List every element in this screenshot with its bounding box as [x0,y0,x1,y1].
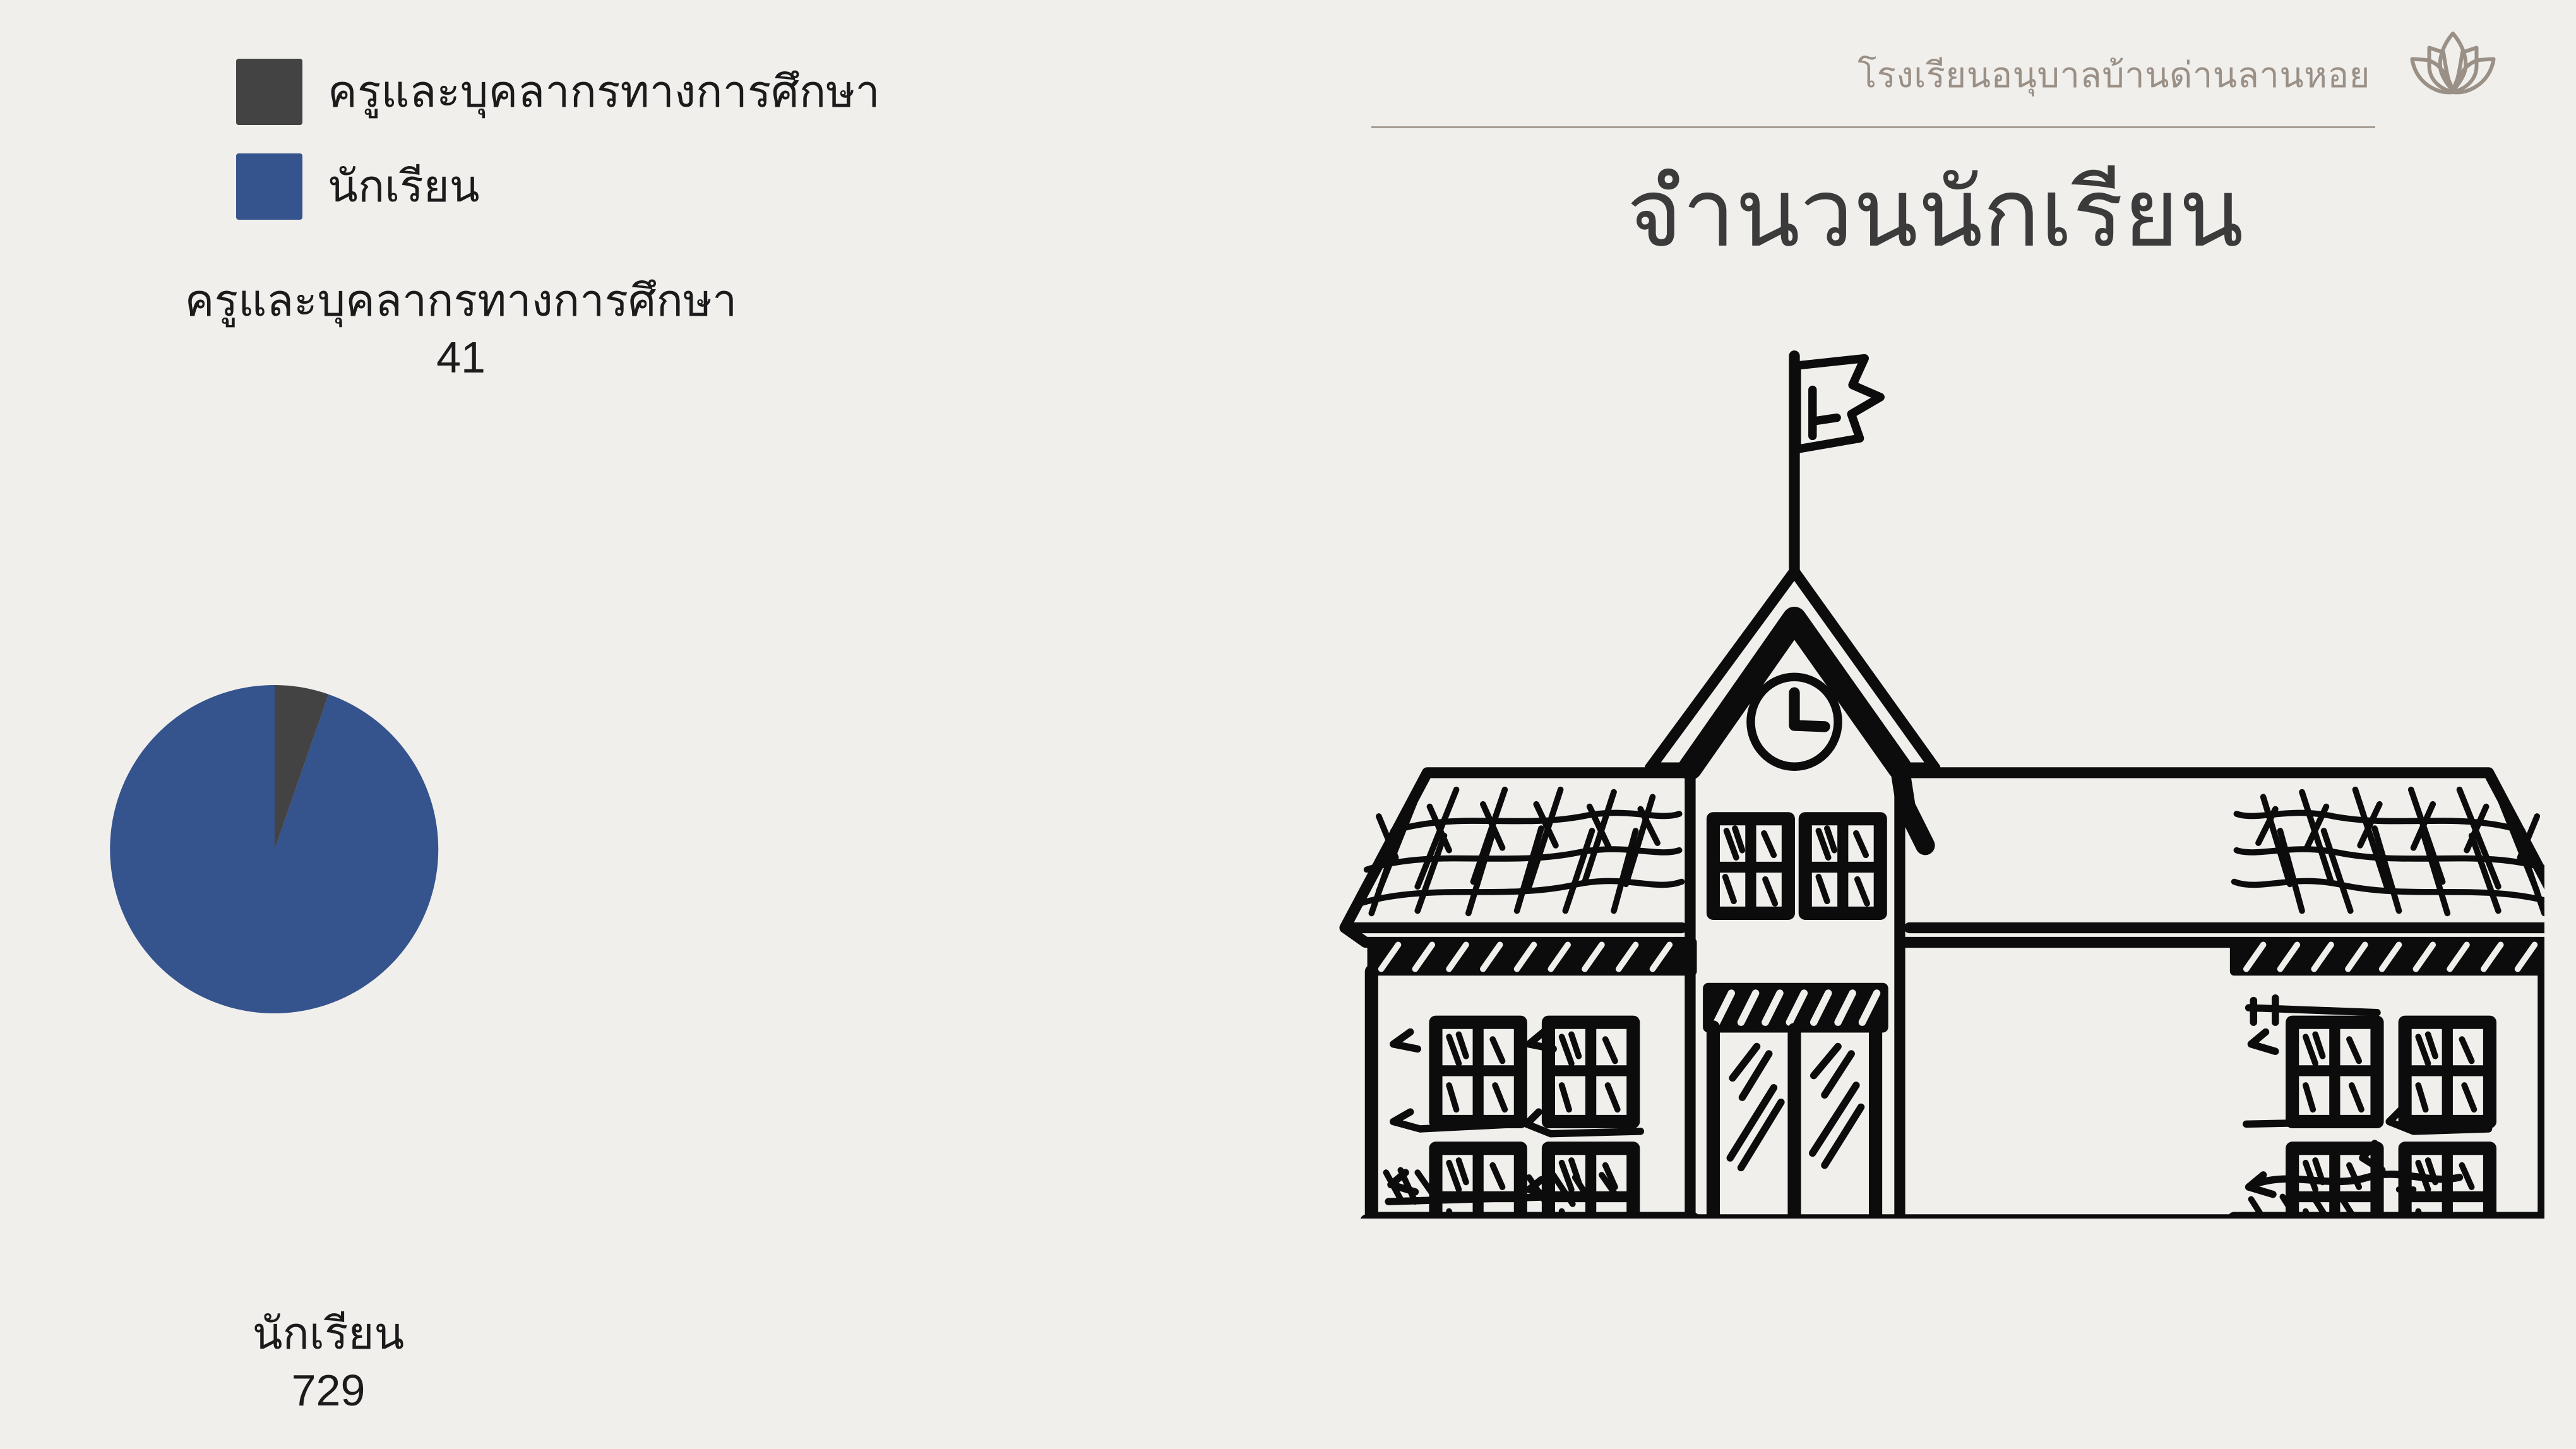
school-building-sketch-icon [1313,322,2544,1219]
pie-label-students-value: 729 [0,1363,657,1419]
wing-window-left-2 [1548,1022,1633,1121]
wing-window-left-3 [1436,1148,1520,1219]
pie-label-students: นักเรียน 729 [0,1306,657,1419]
clock-icon [1751,677,1838,766]
pie-label-teachers: ครูและบุคลากรทางการศึกษา 41 [0,273,922,386]
legend-swatch-students [236,153,302,220]
double-door-icon [1713,1027,1875,1219]
wing-window-right-4 [2405,1148,2490,1219]
pie-label-teachers-name: ครูและบุคลากรทางการศึกษา [0,273,922,330]
brand-header: โรงเรียนอนุบาลบ้านด่านลานหอย [1370,38,2500,111]
legend-label-teachers: ครูและบุคลากรทางการศึกษา [328,69,880,114]
pie-slice-students[interactable] [110,685,438,1013]
page-title: จำนวนนักเรียน [1294,161,2576,265]
lotus-icon [2406,16,2500,111]
header-divider [1371,126,2375,128]
chart-legend: ครูและบุคลากรทางการศึกษา นักเรียน [236,44,1057,234]
legend-item-students[interactable]: นักเรียน [236,139,1057,234]
content-panel: โรงเรียนอนุบาลบ้านด่านลานหอย จำนวนนักเรี… [1294,0,2576,1449]
tower-window-left [1713,819,1788,914]
pie-chart[interactable] [110,685,439,1013]
school-name: โรงเรียนอนุบาลบ้านด่านลานหอย [1857,47,2370,103]
legend-label-students: นักเรียน [328,164,480,208]
tower-window-right [1805,819,1880,914]
legend-swatch-teachers [236,59,302,125]
pie-label-students-name: นักเรียน [0,1306,657,1363]
legend-item-teachers[interactable]: ครูและบุคลากรทางการศึกษา [236,44,1057,139]
wing-window-right-1 [2293,1022,2377,1121]
wing-window-right-2 [2405,1022,2490,1121]
pie-label-teachers-value: 41 [0,330,922,386]
chart-panel: ครูและบุคลากรทางการศึกษา นักเรียน ครูและ… [0,0,1294,1449]
flag-icon [1794,356,1880,571]
wing-window-left-1 [1436,1022,1520,1121]
